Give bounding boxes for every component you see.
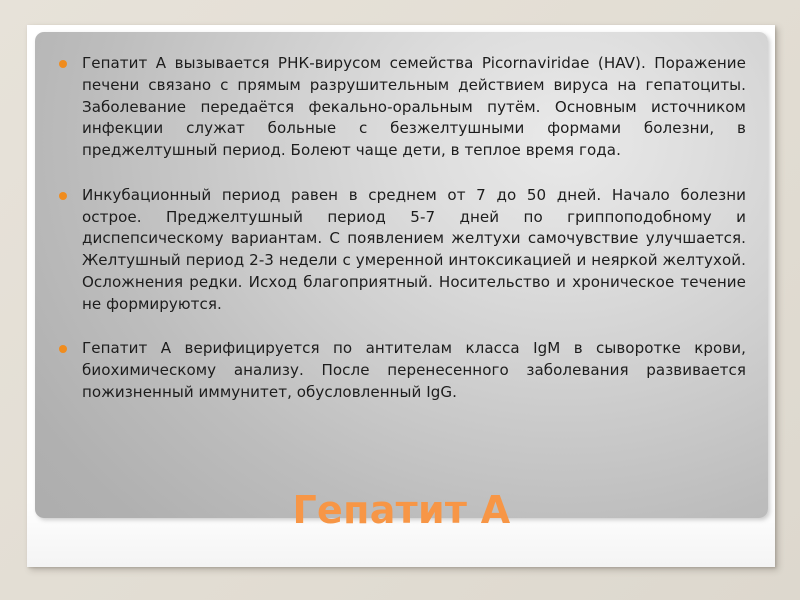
slide-card: Гепатит А вызывается РНК-вирусом семейст…: [27, 25, 775, 567]
list-item: Гепатит А верифицируется по антителам кл…: [57, 338, 746, 425]
list-item-text: Инкубационный период равен в среднем от …: [82, 185, 746, 316]
page-title: Гепатит А: [35, 487, 768, 533]
bullet-list: Гепатит А вызывается РНК-вирусом семейст…: [35, 32, 768, 426]
bullet-dot-icon: [59, 192, 67, 200]
slide-background: Гепатит А вызывается РНК-вирусом семейст…: [0, 0, 800, 600]
list-item: Гепатит А вызывается РНК-вирусом семейст…: [57, 53, 746, 184]
slide-content-panel: Гепатит А вызывается РНК-вирусом семейст…: [35, 32, 768, 518]
list-item: Инкубационный период равен в среднем от …: [57, 185, 746, 338]
bullet-dot-icon: [59, 60, 67, 68]
list-item-text: Гепатит А вызывается РНК-вирусом семейст…: [82, 53, 746, 162]
list-item-text: Гепатит А верифицируется по антителам кл…: [82, 338, 746, 403]
bullet-dot-icon: [59, 345, 67, 353]
